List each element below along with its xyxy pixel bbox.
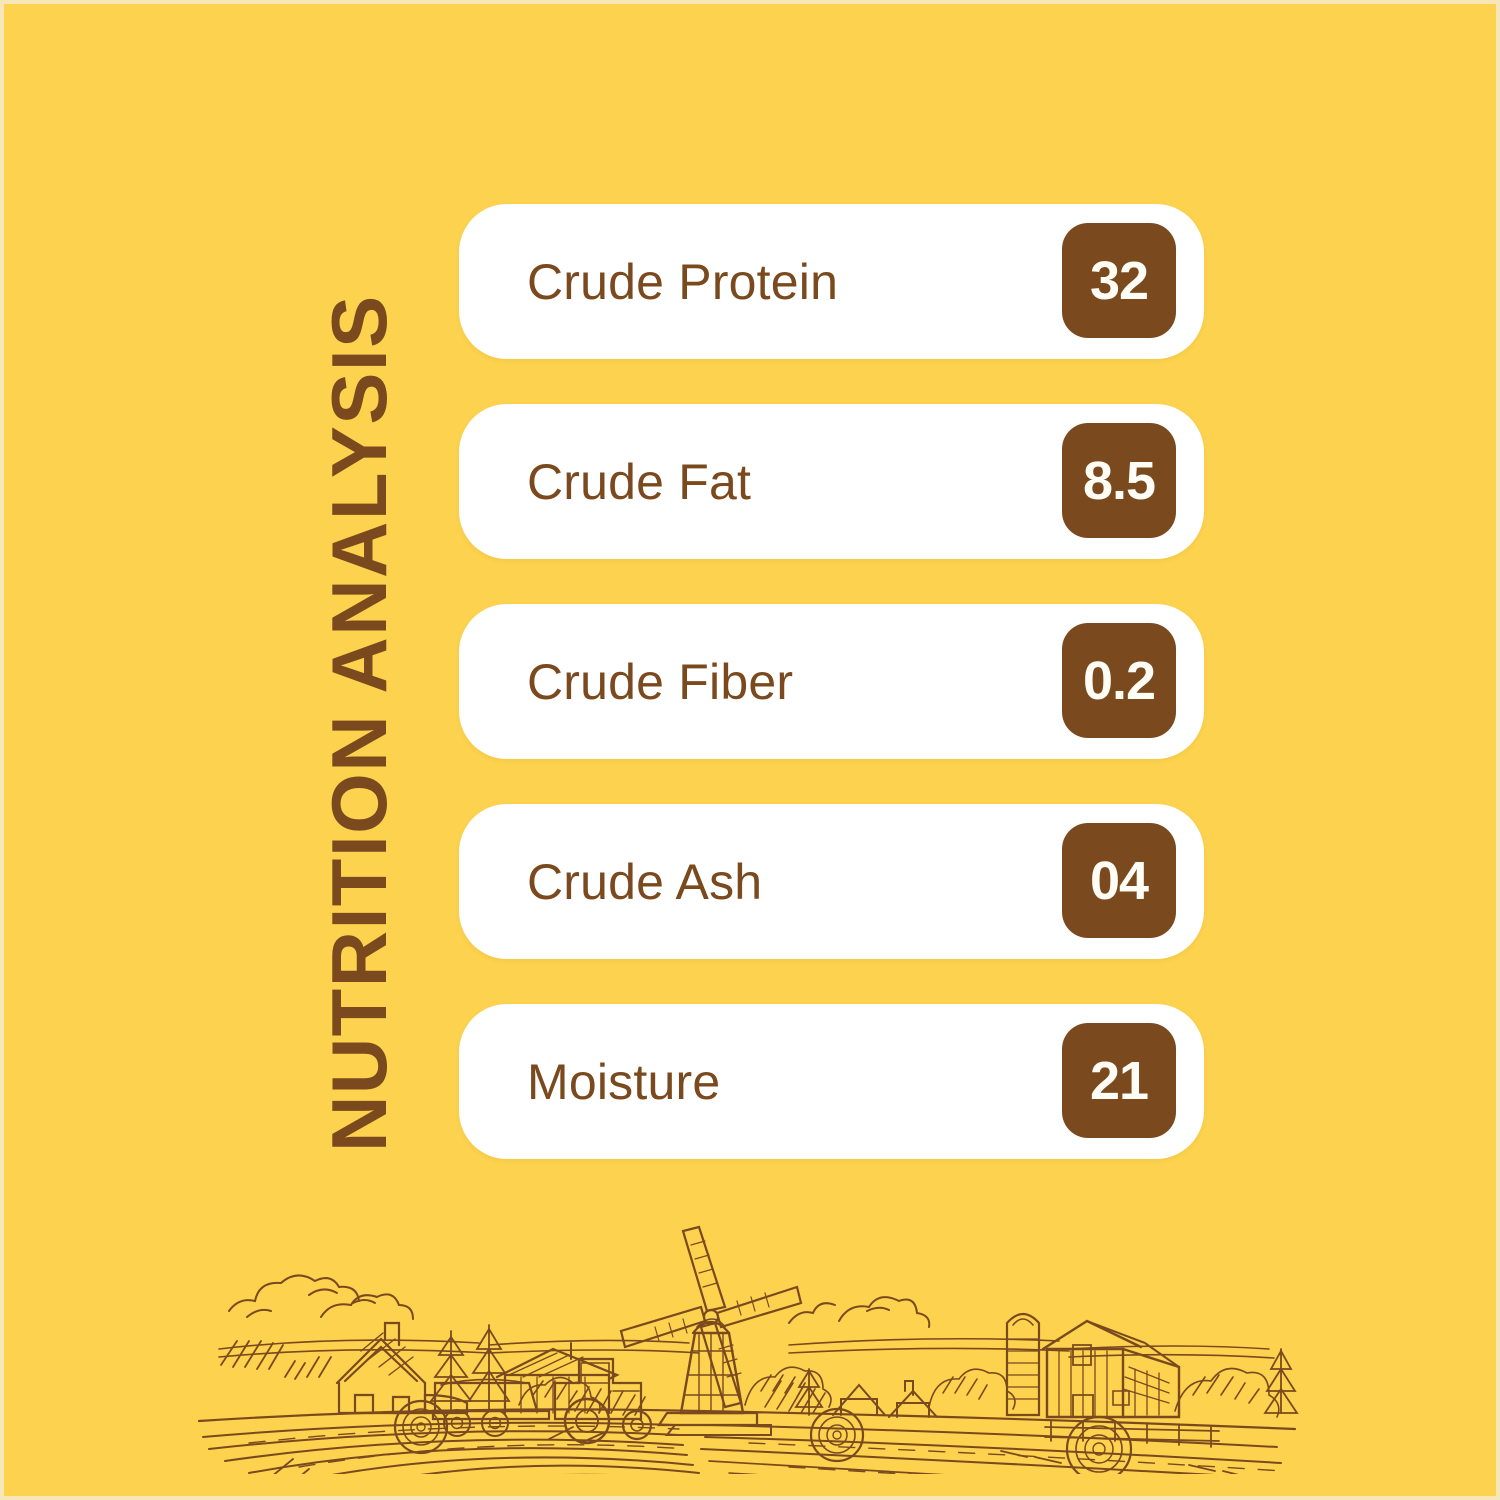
barn-icon	[1043, 1321, 1179, 1417]
nutrition-analysis-poster: NUTRITION ANALYSIS Crude Protein 32 Crud…	[0, 0, 1500, 1500]
shrub-cluster-barn	[929, 1369, 1015, 1409]
nutrient-value: 21	[1090, 1054, 1148, 1108]
nutrient-value: 0.2	[1083, 654, 1155, 708]
nutrient-row-crude-fiber: Crude Fiber 0.2	[459, 604, 1204, 759]
nutrient-value-badge: 21	[1062, 1023, 1176, 1138]
nutrient-value: 32	[1090, 254, 1148, 308]
cottage-icon	[337, 1323, 467, 1413]
nutrient-value: 04	[1090, 854, 1148, 908]
nutrient-row-moisture: Moisture 21	[459, 1004, 1204, 1159]
page-title-container: NUTRITION ANALYSIS	[304, 192, 414, 1152]
nutrient-value-badge: 0.2	[1062, 623, 1176, 738]
hay-bale-right	[1067, 1417, 1131, 1474]
windmill-icon	[621, 1227, 801, 1435]
barn-roof-hatch	[1123, 1367, 1169, 1403]
nutrient-label: Crude Fiber	[527, 653, 793, 711]
shrub-cluster-right	[1175, 1369, 1279, 1418]
silo-icon	[1007, 1314, 1039, 1415]
nutrient-label: Crude Fat	[527, 453, 751, 511]
nutrient-value-badge: 32	[1062, 223, 1176, 338]
farm-landscape-illustration	[189, 1199, 1304, 1474]
hay-bale-left	[395, 1401, 447, 1453]
page-title: NUTRITION ANALYSIS	[320, 294, 398, 1152]
conifer-tree-right	[1265, 1349, 1297, 1413]
nutrient-label: Moisture	[527, 1053, 720, 1111]
conifer-trees-left	[431, 1325, 509, 1411]
nutrient-row-crude-ash: Crude Ash 04	[459, 804, 1204, 959]
nutrient-list: Crude Protein 32 Crude Fat 8.5 Crude Fib…	[459, 204, 1204, 1159]
nutrient-row-crude-protein: Crude Protein 32	[459, 204, 1204, 359]
nutrient-row-crude-fat: Crude Fat 8.5	[459, 404, 1204, 559]
nutrient-label: Crude Ash	[527, 853, 762, 911]
nutrient-label: Crude Protein	[527, 253, 838, 311]
cloud-icon-left	[229, 1275, 413, 1319]
cloud-icon-right	[789, 1297, 929, 1327]
nutrient-value-badge: 8.5	[1062, 423, 1176, 538]
farm-landscape-svg	[189, 1199, 1304, 1474]
hay-bale-mid-right	[811, 1409, 863, 1461]
scene-strokes	[199, 1227, 1297, 1474]
nutrient-value: 8.5	[1083, 454, 1155, 508]
nutrient-value-badge: 04	[1062, 823, 1176, 938]
